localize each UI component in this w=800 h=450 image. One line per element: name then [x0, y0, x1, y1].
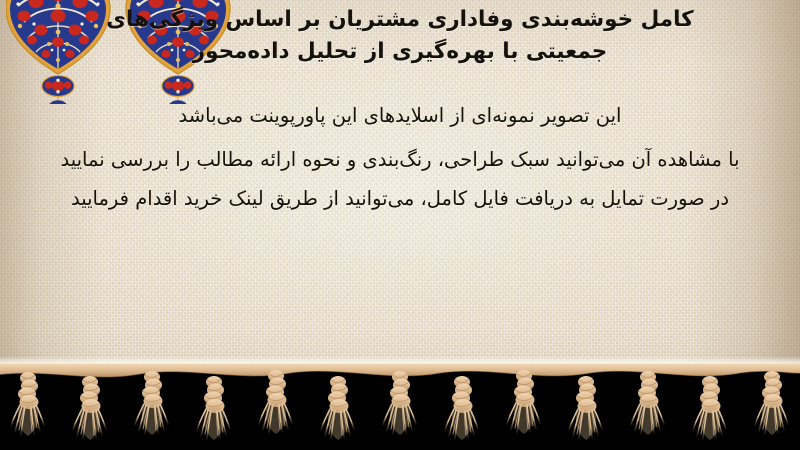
carpet-fringe-band [0, 364, 800, 450]
slide-body: این تصویر نمونه‌ای از اسلایدهای این پاور… [0, 106, 800, 209]
slide-title-line-2: جمعیتی با بهره‌گیری از تحلیل داده‌محور [28, 36, 772, 68]
slide-body-line-2: با مشاهده آن می‌توانید سبک طراحی، رنگ‌بن… [14, 150, 786, 170]
slide-body-line-3: در صورت تمایل به دریافت فایل کامل، می‌تو… [14, 189, 786, 209]
slide-title: کامل خوشه‌بندی وفاداری مشتریان بر اساس و… [0, 4, 800, 68]
slide-title-line-1: کامل خوشه‌بندی وفاداری مشتریان بر اساس و… [28, 4, 772, 36]
carpet-fringe-icon [0, 364, 800, 450]
slide-canvas: کامل خوشه‌بندی وفاداری مشتریان بر اساس و… [0, 0, 800, 450]
slide-body-line-1: این تصویر نمونه‌ای از اسلایدهای این پاور… [14, 106, 786, 126]
